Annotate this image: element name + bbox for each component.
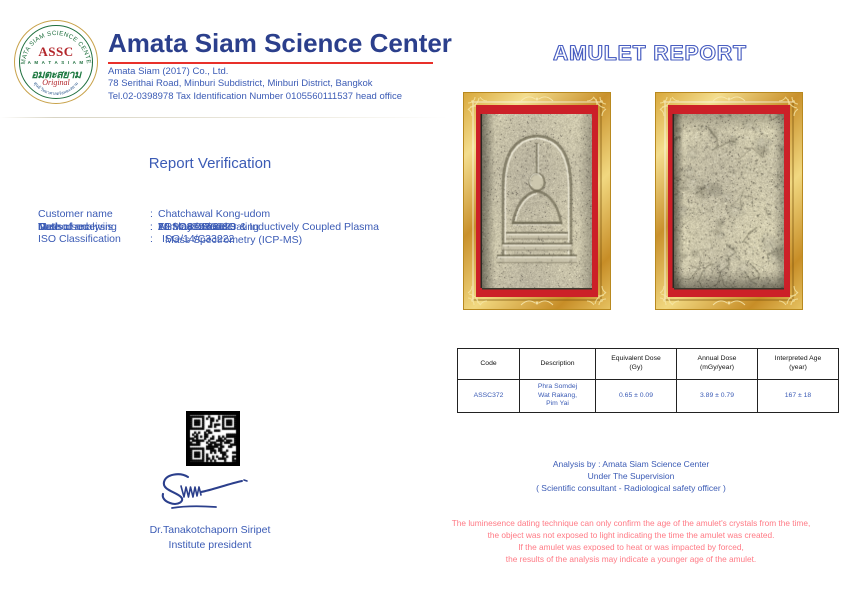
disclaimer-line-4: the results of the analysis may indicate…: [420, 553, 842, 565]
header-line1: Annual Dose: [698, 355, 737, 362]
column-header-description: Description: [520, 349, 596, 380]
disclaimer-text: The luminesence dating technique can onl…: [420, 517, 842, 565]
frame-corner-ornament-icon: [657, 94, 683, 120]
frame-edge-flourish-icon: [709, 93, 749, 105]
amulet-back-frame: [655, 92, 803, 310]
address-line-2: 78 Serithai Road, Minburi Subdistrict, M…: [108, 78, 458, 90]
field-label: ISO Classification: [38, 233, 150, 246]
header-line1: Description: [541, 360, 575, 367]
field-colon: :: [150, 221, 153, 234]
seal-abbrev: ASSC: [14, 44, 98, 60]
qr-code-canvas: [186, 411, 240, 466]
frame-corner-ornament-icon: [583, 282, 609, 308]
header-red-rule: [108, 62, 433, 64]
table-header-row: Code Description Equivalent Dose (Gy) An…: [458, 349, 839, 380]
company-title: Amata Siam Science Center: [108, 28, 452, 59]
field-value: ISO/14/C33222: [162, 233, 442, 246]
address-line-1: Amata Siam (2017) Co., Ltd.: [108, 66, 458, 78]
frame-corner-ornament-icon: [465, 94, 491, 120]
cell-equivalent-dose: 0.65 ± 0.09: [596, 380, 677, 413]
frame-edge-flourish-icon: [517, 297, 557, 309]
header-divider: [0, 117, 448, 118]
header-line1: Code: [480, 360, 496, 367]
description-line1: Phra Somdej: [538, 383, 577, 390]
frame-edge-flourish-icon: [517, 93, 557, 105]
description-line2: Wat Rakang,: [538, 392, 577, 399]
signer-name: Dr.Tanakotchaporn Siripet: [0, 523, 420, 538]
field-value: Chatchawal Kong-udom: [158, 208, 438, 221]
column-header-code: Code: [458, 349, 520, 380]
frame-corner-ornament-icon: [583, 94, 609, 120]
cell-description: Phra Somdej Wat Rakang, Pim Yai: [520, 380, 596, 413]
field-label: Customer name: [38, 208, 150, 221]
field-label: Tools used: [38, 221, 150, 234]
column-header-equivalent-dose: Equivalent Dose (Gy): [596, 349, 677, 380]
amulet-front-photo[interactable]: [482, 114, 592, 288]
signer-block: Dr.Tanakotchaporn Siripet Institute pres…: [0, 523, 420, 553]
frame-corner-ornament-icon: [657, 282, 683, 308]
header-line1: Interpreted Age: [775, 355, 821, 362]
header-line2: (year): [789, 364, 807, 371]
analysis-credits: Analysis by : Amata Siam Science Center …: [420, 459, 842, 494]
qr-code[interactable]: [186, 411, 240, 466]
disclaimer-line-3: If the amulet was exposed to heat or was…: [420, 541, 842, 553]
cell-interpreted-age: 167 ± 18: [758, 380, 839, 413]
header-line2: (Gy): [629, 364, 642, 371]
seal-original-text: Original: [14, 78, 98, 87]
description-line3: Pim Yai: [546, 400, 569, 407]
address-line-3: Tel.02-0398978 Tax Identification Number…: [108, 91, 458, 103]
results-table: Code Description Equivalent Dose (Gy) An…: [457, 348, 839, 413]
table-row: ASSC372 Phra Somdej Wat Rakang, Pim Yai …: [458, 380, 839, 413]
signer-role: Institute president: [0, 538, 420, 553]
analysis-line-2: Under The Supervision: [420, 471, 842, 483]
column-header-interpreted-age: Interpreted Age (year): [758, 349, 839, 380]
cell-annual-dose: 3.89 ± 0.79: [677, 380, 758, 413]
amulet-report-title: AMULET REPORT: [460, 42, 840, 66]
frame-edge-flourish-icon: [709, 297, 749, 309]
header-line1: Equivalent Dose: [611, 355, 661, 362]
report-page: AMATA SIAM SCIENCE CENTER ศูนย์ วิทยาศาส…: [0, 0, 842, 595]
analysis-line-3: ( Scientific consultant - Radiological s…: [420, 483, 842, 495]
disclaimer-line-2: the object was not exposed to light indi…: [420, 529, 842, 541]
frame-corner-ornament-icon: [775, 94, 801, 120]
company-address: Amata Siam (2017) Co., Ltd. 78 Serithai …: [108, 66, 458, 103]
amulet-back-canvas: [674, 114, 784, 288]
amulet-front-frame: [463, 92, 611, 310]
company-seal-logo: AMATA SIAM SCIENCE CENTER ศูนย์ วิทยาศาส…: [14, 20, 98, 104]
field-colon: :: [150, 208, 153, 221]
verification-fields: Customer name : Chatchawal Kong-udom No.…: [38, 208, 438, 233]
frame-corner-ornament-icon: [775, 282, 801, 308]
header-line2: (mGy/year): [700, 364, 734, 371]
amulet-back-photo[interactable]: [674, 114, 784, 288]
amulet-front-canvas: [482, 114, 592, 288]
column-header-annual-dose: Annual Dose (mGy/year): [677, 349, 758, 380]
disclaimer-line-1: The luminesence dating technique can onl…: [420, 517, 842, 529]
field-colon: :: [150, 233, 153, 246]
frame-corner-ornament-icon: [465, 282, 491, 308]
cell-code: ASSC372: [458, 380, 520, 413]
signature-icon: [150, 470, 280, 512]
field-value: TL / OSL Reader & Inductively Coupled Pl…: [158, 221, 438, 234]
analysis-line-1: Analysis by : Amata Siam Science Center: [420, 459, 842, 471]
report-verification-heading: Report Verification: [0, 155, 420, 172]
